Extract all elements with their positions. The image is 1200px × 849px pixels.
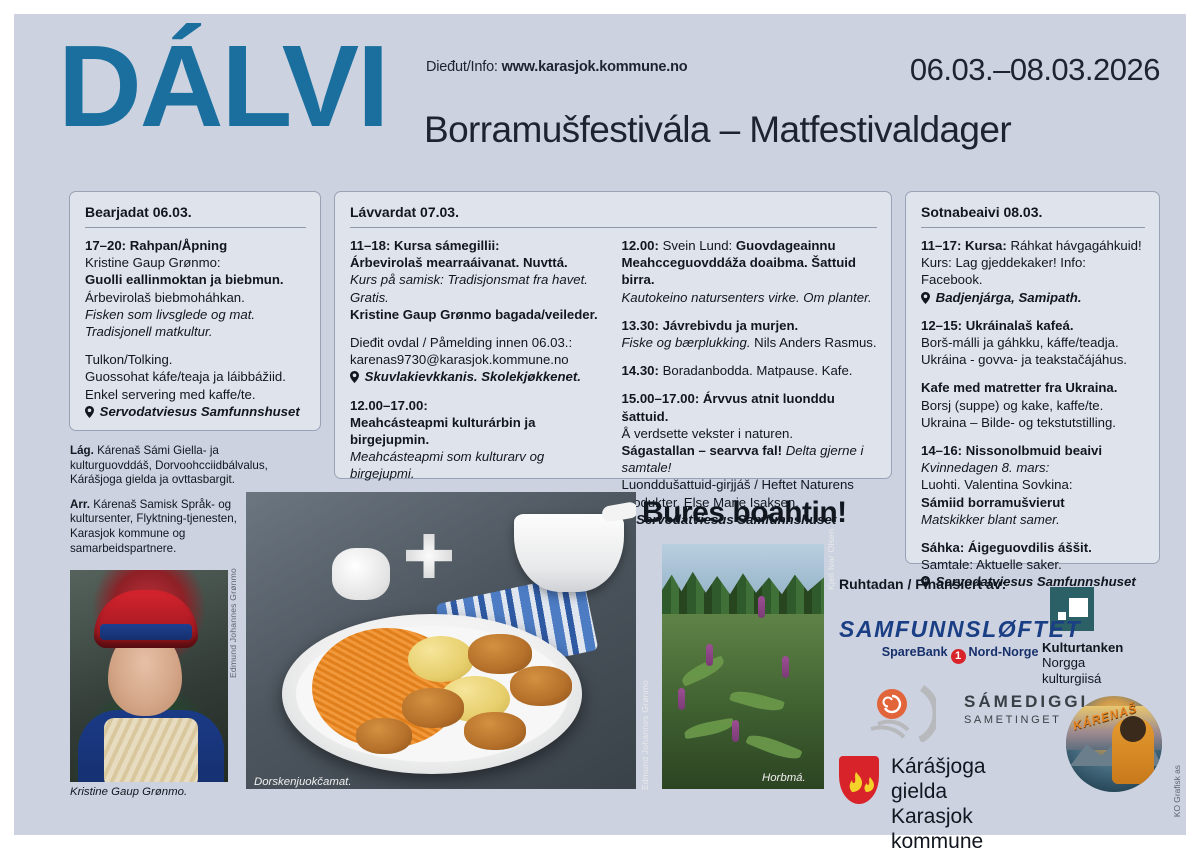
sun-b3-line2: Luohti. Valentina Sovkina: [921, 476, 1145, 493]
friday-line-6: Guossohat káfe/teaja ja láibbážiid. [85, 368, 306, 385]
saturday-column-right: 12.00: Svein Lund: Guovdageainnu Meahcce… [622, 237, 878, 528]
friday-time: 17–20: Rahpan/Åpning [85, 237, 306, 254]
saturday-break-block: 14.30: Boradanbodda. Matpause. Kafe. [622, 362, 878, 379]
karasjok-coat-of-arms-icon [839, 756, 879, 804]
sun-b1-line1: Ráhkat hávgagáhkuid! [1007, 238, 1142, 253]
food-fishcake-5 [356, 718, 412, 754]
sat-r-b2-line2b: Nils Anders Rasmus. [751, 335, 877, 350]
flower-bloom-4 [678, 688, 685, 710]
photo-kristine-portrait [70, 570, 228, 782]
sun-b1-venue-row: Badjenjárga, Samipath. [921, 289, 1145, 306]
flower-bloom-2 [706, 644, 713, 666]
friday-venue-row: Servodatviesus Samfunnshuset [85, 403, 306, 420]
friday-line-3: Árbevirolaš biebmoháhkan. [85, 289, 306, 306]
funding-label: Ruhtadan / Finansiert av: [839, 576, 1006, 592]
location-pin-icon [85, 403, 96, 420]
karenas-logo: KÁRENAŠ [1066, 696, 1162, 792]
portrait-gakti [78, 710, 224, 782]
friday-line-7: Enkel servering med kaffe/te. [85, 386, 306, 403]
karenas-figure-head [1120, 716, 1146, 742]
friday-line-5: Tulkon/Tolking. [85, 351, 306, 368]
food-fishcake-3 [402, 688, 464, 728]
festival-subtitle: Borramušfestivála – Matfestivaldager [424, 109, 1011, 151]
flower-caption: Horbmá. [762, 772, 806, 784]
sat-r-b4-line1: Å verdsette vekster i naturen. [622, 425, 878, 442]
sparebank-text-b: Nord-Norge [969, 645, 1039, 659]
sun-b1-venue: Badjenjárga, Samipath. [936, 290, 1082, 305]
sat-r-b3-line1: Boradanbodda. Matpause. Kafe. [659, 363, 853, 378]
sat-r-b4-line2a: Ságastallan – searvva fal! [622, 443, 783, 458]
sunday-cafe-no-block: Kafe med matretter fra Ukraina. Borsj (s… [921, 379, 1145, 431]
portrait-caption: Kristine Gaup Grønmo. [70, 786, 187, 798]
sat-r-b3-time: 14.30: [622, 363, 659, 378]
credit-lag: Lág. Kárenaš Sámi Giella- ja kulturguovd… [70, 444, 285, 488]
sat-l-b2-time: 12.00–17.00: [350, 397, 606, 414]
kulturtanken-line-3: kulturgiisá [1042, 671, 1123, 686]
sparebank-text-a: SpareBank [882, 645, 948, 659]
food-coral-decor [332, 548, 390, 600]
info-line: Dieđut/Info: www.karasjok.kommune.no [426, 59, 687, 75]
designer-credit: KO Grafisk as [1172, 765, 1182, 817]
day-panel-saturday: Lávvardat 07.03. 11–18: Kursa sámegillii… [334, 191, 892, 479]
credit-arr-label: Arr. [70, 498, 90, 511]
day-panel-sunday: Sotnabeaivi 08.03. 11–17: Kursa: Ráhkat … [905, 191, 1160, 564]
sat-l-b2-line1: Meahcásteapmi kulturárbin ja birgejupmin… [350, 414, 606, 448]
sat-r-b2-line1: Jávrebivdu ja murjen. [659, 318, 798, 333]
sat-l-b1-line2: Kurs på samisk: Tradisjonsmat fra havet.… [350, 271, 606, 305]
festival-logo: DÁLVI [58, 28, 387, 144]
sunday-cafe-block: 12–15: Ukráinalaš kafeá. Borš-málli ja g… [921, 317, 1145, 369]
photo-dorskenjuokcamat [246, 492, 636, 789]
friday-serving-block: Tulkon/Tolking. Guossohat káfe/teaja ja … [85, 351, 306, 420]
sat-r-b4-time: 15.00–17.00: Árvvus atnit luonddu šattui… [622, 390, 878, 424]
portrait-photo-credit: Edmund Johannes Grønmo [228, 558, 238, 678]
sun-b1-time: 11–17: [921, 238, 965, 253]
sun-b1-head: 11–17: Kursa: Ráhkat hávgagáhkuid! [921, 237, 1145, 254]
food-cross-decor [406, 534, 452, 578]
samediggi-spiral-icon [864, 684, 936, 742]
sponsor-area: Ruhtadan / Finansiert av: Kulturtanken N… [834, 576, 1164, 826]
friday-event-block: 17–20: Rahpan/Åpning Kristine Gaup Grønm… [85, 237, 306, 340]
location-pin-icon [350, 368, 361, 385]
welcome-heading: Bures boahtin! [642, 496, 847, 530]
sat-r-b2-head: 13.30: Jávrebivdu ja murjen. [622, 317, 878, 334]
sat-l-b2-line2: Meahcásteapmi som kulturarv og birgejupm… [350, 448, 606, 482]
saturday-registration-block: Dieđit ovdal / Påmelding innen 06.03.: k… [350, 334, 606, 386]
sun-b2-time: 12–15: Ukráinalaš kafeá. [921, 317, 1145, 334]
samfunnsloftet-logo: SAMFUNNSLØFTET SpareBank1Nord-Norge [839, 616, 1081, 664]
friday-line-1: Kristine Gaup Grønmo: [85, 254, 306, 271]
sat-r-b3-head: 14.30: Boradanbodda. Matpause. Kafe. [622, 362, 878, 379]
sat-r-b1-line2: Kautokeino natursenters virke. Om plante… [622, 289, 878, 306]
flower-bloom-1 [758, 596, 765, 618]
sparebank-one-icon: 1 [951, 649, 966, 664]
info-label: Dieđut/Info: [426, 59, 498, 75]
samfunnsloftet-wordmark: SAMFUNNSLØFTET [839, 616, 1081, 643]
sat-r-b1-time: 12.00: [622, 238, 659, 253]
credit-lag-text: Kárenaš Sámi Giella- ja kulturguovddáš, … [70, 444, 268, 486]
sat-l-b1-line3: Kristine Gaup Grønmo bagada/veileder. [350, 306, 606, 323]
sun-b3-line3: Sámiid borramušvierut [921, 494, 1145, 511]
day-title-friday: Bearjadat 06.03. [85, 204, 306, 228]
saturday-column-left: 11–18: Kursa sámegillii: Árbevirolaš mea… [350, 237, 606, 528]
sun-b1-kursa: Kursa: [965, 238, 1007, 253]
sat-l-b1-time: 11–18: Kursa sámegillii: [350, 237, 606, 254]
sun-b3-line5: Sáhka: Áigeguovdilis áššit. [921, 539, 1145, 556]
sun-b2-line3: Kafe med matretter fra Ukraina. [921, 379, 1145, 396]
karasjok-wordmark: Kárášjoga gielda Karasjok kommune [891, 754, 986, 849]
poster-sheet: DÁLVI Dieđut/Info: www.karasjok.kommune.… [14, 14, 1186, 835]
saturday-lecture-block: 12.00: Svein Lund: Guovdageainnu Meahcce… [622, 237, 878, 306]
flower-bloom-3 [782, 656, 789, 678]
food-potato-1 [408, 636, 474, 682]
day-title-saturday: Lávvardat 07.03. [350, 204, 877, 228]
kommune-line-2: Karasjok kommune [891, 804, 986, 849]
flame-icon [839, 756, 879, 804]
saturday-outdoor-block: 12.00–17.00: Meahcásteapmi kulturárbin j… [350, 397, 606, 483]
sun-b3-time: 14–16: Nissonolbmuid beaivi [921, 442, 1145, 459]
sat-l-b1-line4: Dieđit ovdal / Påmelding innen 06.03.: [350, 334, 606, 351]
food-creamer-cup [514, 514, 624, 592]
sun-b3-line4: Matskikker blant samer. [921, 511, 1145, 528]
sat-l-b1-venue: Skuvlakievkkanis. Skolekjøkkenet. [365, 369, 581, 384]
sun-b3-line1: Kvinnedagen 8. mars: [921, 459, 1145, 476]
saturday-fishing-block: 13.30: Jávrebivdu ja murjen. Fiske og bæ… [622, 317, 878, 351]
sun-b2-line1: Borš-málli ja gáhkku, káffe/teadja. [921, 334, 1145, 351]
sat-l-b1-line1: Árbevirolaš mearraáivanat. Nuvttá. [350, 254, 606, 271]
sun-b2-line4: Borsj (suppe) og kake, kaffe/te. [921, 397, 1145, 414]
photo-horbma-fireweed [662, 544, 824, 789]
sun-b1-line2: Kurs: Lag gjeddekaker! Info: Facebook. [921, 254, 1145, 288]
poster-header: DÁLVI Dieđut/Info: www.karasjok.kommune.… [14, 14, 1186, 166]
sat-r-b4-line2: Ságastallan – searvva fal! Delta gjerne … [622, 442, 878, 476]
food-fishcake-4 [464, 712, 526, 750]
friday-venue: Servodatviesus Samfunnshuset [100, 404, 300, 419]
sunday-womensday-block: 14–16: Nissonolbmuid beaivi Kvinnedagen … [921, 442, 1145, 528]
sunday-course-block: 11–17: Kursa: Ráhkat hávgagáhkuid! Kurs:… [921, 237, 1145, 306]
flower-bloom-5 [732, 720, 739, 742]
day-title-sunday: Sotnabeaivi 08.03. [921, 204, 1145, 228]
kommune-line-1: Kárášjoga gielda [891, 754, 986, 804]
info-url[interactable]: www.karasjok.kommune.no [502, 59, 688, 75]
friday-line-2: Guolli eallinmoktan ja biebmun. [85, 271, 306, 288]
food-plate [282, 614, 582, 774]
friday-line-4: Fisken som livsglede og mat. Tradisjonel… [85, 306, 306, 340]
food-caption: Dorskenjuokčamat. [254, 776, 352, 788]
sat-r-b1-head: 12.00: Svein Lund: Guovdageainnu Meahcce… [622, 237, 878, 289]
festival-dates: 06.03.–08.03.2026 [910, 52, 1160, 88]
sat-r-b2-line2a: Fiske og bærplukking. [622, 335, 751, 350]
poster-root: DÁLVI Dieđut/Info: www.karasjok.kommune.… [0, 0, 1200, 849]
sparebank-line: SpareBank1Nord-Norge [839, 645, 1081, 664]
location-pin-icon [921, 289, 932, 306]
day-panel-friday: Bearjadat 06.03. 17–20: Rahpan/Åpning Kr… [69, 191, 321, 431]
sun-b2-line5: Ukraina – Bilde- og tekstutstilling. [921, 414, 1145, 431]
credit-arr-text: Kárenaš Samisk Språk- og kultursenter, F… [70, 498, 237, 555]
food-fishcake-2 [510, 666, 572, 706]
sat-l-b1-email[interactable]: karenas9730@karasjok.kommune.no [350, 351, 606, 368]
credit-lag-label: Lág. [70, 444, 94, 457]
sun-b3-line6: Samtale: Aktuelle saker. [921, 556, 1145, 573]
food-photo-credit: Edmund Johannes Grønmo [640, 662, 650, 790]
saturday-course-block: 11–18: Kursa sámegillii: Árbevirolaš mea… [350, 237, 606, 323]
sat-r-b1-name: Svein Lund: [659, 238, 736, 253]
sat-r-b2-sub: Fiske og bærplukking. Nils Anders Rasmus… [622, 334, 878, 351]
sat-l-b1-venue-row: Skuvlakievkkanis. Skolekjøkkenet. [350, 368, 606, 385]
sat-r-b2-time: 13.30: [622, 318, 659, 333]
sun-b2-line2: Ukráina - govva- ja teakstačájáhus. [921, 351, 1145, 368]
